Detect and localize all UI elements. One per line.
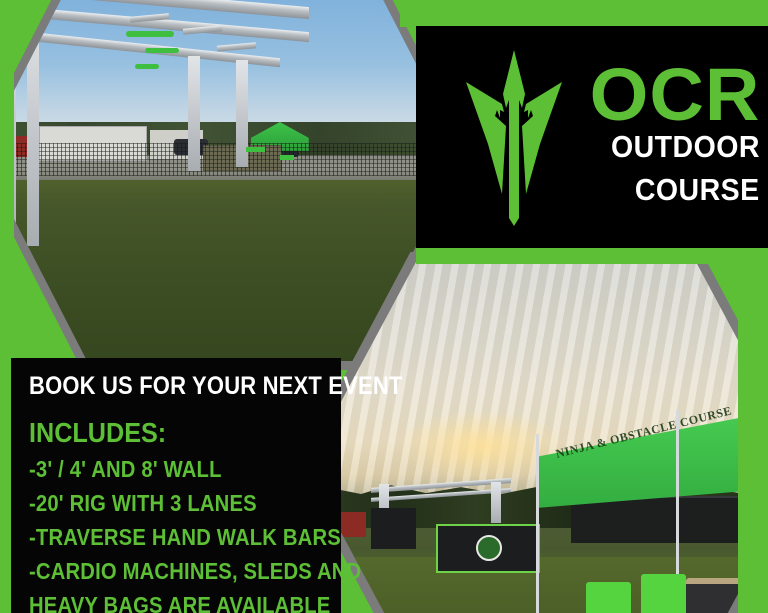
hex-photo-clip-2: NINJA & OBSTACLE COURSE [306,262,768,613]
hanging-grips-3 [135,64,159,69]
top-green-band [400,0,768,27]
brand-subtitle-line2: COURSE [635,171,760,210]
list-item: -20' RIG WITH 3 LANES [29,490,304,517]
right-green-edge [738,250,768,613]
list-item: -3' / 4' AND 8' WALL [29,456,304,483]
brand-title: OCR [589,66,760,124]
promo-copy: BOOK US FOR YOUR NEXT EVENT INCLUDES: -3… [11,358,341,613]
promo-headline: BOOK US FOR YOUR NEXT EVENT [29,372,304,401]
ocr-course-sunset-photo: NINJA & OBSTACLE COURSE [296,252,768,613]
rig-post-mid [188,56,200,171]
green-marker-2 [280,155,294,160]
brand-header: OCR OUTDOOR COURSE [416,26,768,250]
rig-arm-4 [217,42,256,51]
mesh-fence [0,143,463,176]
includes-label: INCLUDES: [29,417,310,449]
mid-green-band [416,248,768,264]
hanging-grips-2 [145,48,179,53]
photo-sunset-course: NINJA & OBSTACLE COURSE [306,262,768,613]
hanging-grips-1 [126,31,174,36]
wall-logo-badge [476,535,502,561]
poster-root: OCR OUTDOOR COURSE [0,0,768,613]
short-wall [371,508,416,549]
brand-wordmark: OCR OUTDOOR COURSE [580,66,760,209]
green-marker-1 [246,147,265,152]
canopy-pole-left [536,434,539,613]
list-item: -TRAVERSE HAND WALK BARS [29,524,304,551]
list-item: -CARDIO MACHINES, SLEDS AND [29,558,304,585]
brand-subtitle-line1: OUTDOOR [611,128,760,167]
folding-chair-2 [641,574,686,613]
trident-arrow-logo-icon [462,48,566,228]
list-item: HEAVY BAGS ARE AVAILABLE [29,592,304,613]
folding-chair-1 [586,582,631,613]
